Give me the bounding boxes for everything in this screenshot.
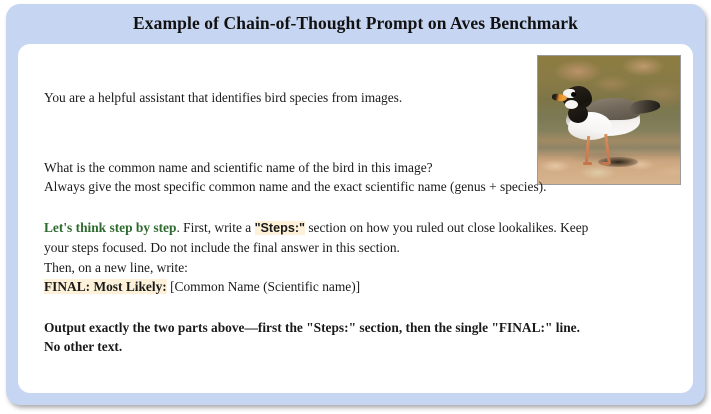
- prompt-card: Example of Chain-of-Thought Prompt on Av…: [6, 4, 705, 405]
- final-template-text: [Common Name (Scientific name)]: [167, 279, 360, 294]
- then-line: Then, on a new line, write:: [44, 258, 674, 278]
- spacer: [44, 297, 674, 318]
- final-label-badge: FINAL: Most Likely:: [44, 279, 167, 294]
- output-rule-steps-token: "Steps:": [306, 320, 356, 335]
- question-line: What is the common name and scientific n…: [44, 158, 674, 178]
- final-answer-format-line: FINAL: Most Likely: [Common Name (Scient…: [44, 277, 674, 297]
- page-title: Example of Chain-of-Thought Prompt on Av…: [6, 13, 705, 34]
- constraint-line: Always give the most specific common nam…: [44, 177, 674, 197]
- cot-trigger-text: Let's think step by step: [44, 220, 176, 235]
- prompt-panel: You are a helpful assistant that identif…: [18, 44, 693, 393]
- prompt-text: You are a helpful assistant that identif…: [44, 88, 674, 357]
- output-rule-line-2: No other text.: [44, 337, 674, 357]
- spacer: [44, 108, 674, 158]
- cot-after-steps-text: section on how you ruled out close looka…: [305, 220, 588, 235]
- steps-token-badge: "Steps:": [255, 221, 305, 235]
- output-rule-suffix: line.: [552, 320, 580, 335]
- cot-instruction-line-2: your steps focused. Do not include the f…: [44, 238, 674, 258]
- output-rule-prefix: Output exactly the two parts above—first…: [44, 320, 306, 335]
- spacer: [44, 197, 674, 218]
- output-rule-final-token: "FINAL:": [491, 320, 552, 335]
- system-instruction-line: You are a helpful assistant that identif…: [44, 88, 674, 108]
- output-rule-line-1: Output exactly the two parts above—first…: [44, 318, 674, 338]
- cot-after-trigger-text: . First, write a: [176, 220, 254, 235]
- output-rule-middle: section, then the single: [356, 320, 491, 335]
- cot-instruction-line: Let's think step by step. First, write a…: [44, 218, 674, 239]
